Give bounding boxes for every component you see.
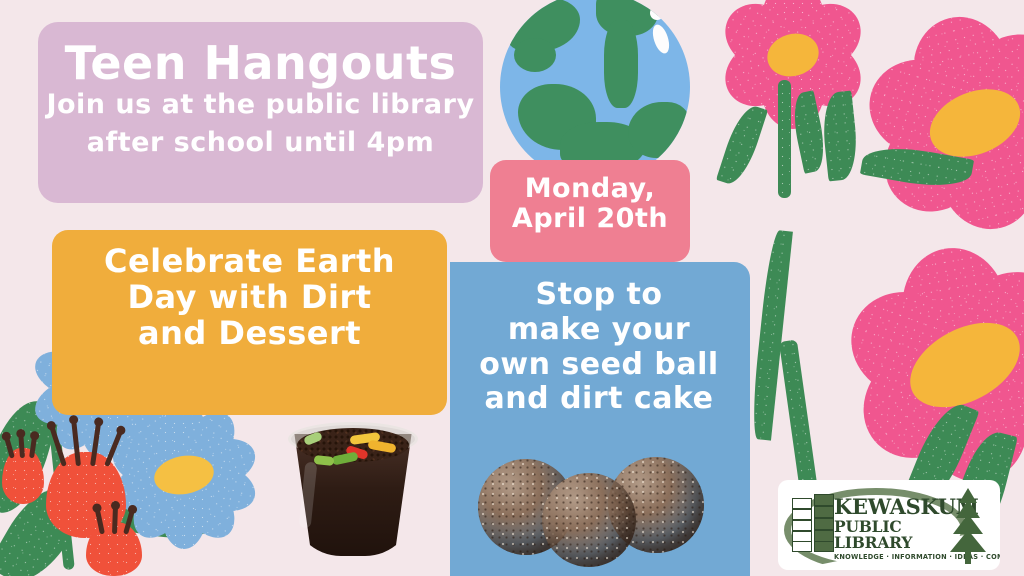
date-line-1: Monday,: [490, 174, 690, 204]
orange-line-2: Day with Dirt: [52, 280, 447, 316]
date-line-2: April 20th: [490, 204, 690, 234]
library-logo: KEWASKUM PUBLIC LIBRARY KNOWLEDGE · INFO…: [778, 480, 1000, 570]
date-badge: Monday, April 20th: [490, 160, 690, 262]
red-flower-bottom: [86, 522, 142, 576]
flower-stem: [48, 420, 75, 570]
flower-stem-curved: [779, 340, 819, 501]
pink-flower-top-right: [718, 0, 868, 130]
blue-line-2: make your: [458, 313, 740, 348]
flower-leaf: [819, 91, 860, 182]
flower-leaf: [716, 102, 768, 189]
orange-panel-text: Celebrate Earth Day with Dirt and Desser…: [52, 230, 447, 351]
blue-line-1: Stop to: [458, 278, 740, 313]
pine-tree-icon: [946, 486, 990, 564]
poster-canvas: Teen Hangouts Join us at the public libr…: [0, 0, 1024, 576]
header-panel: Teen Hangouts Join us at the public libr…: [38, 22, 483, 203]
earth-globe-icon: [500, 0, 690, 182]
blue-info-panel: Stop to make your own seed ball and dirt…: [450, 262, 750, 576]
orange-line-3: and Dessert: [52, 316, 447, 352]
pink-flower-large-lower: [840, 250, 1024, 480]
blue-flower-lower-right: [94, 400, 274, 550]
flower-leaf: [860, 141, 974, 194]
header-subtitle-line-2: after school until 4pm: [38, 128, 483, 158]
orange-info-panel: Celebrate Earth Day with Dirt and Desser…: [52, 230, 447, 415]
flower-leaf: [89, 484, 217, 548]
flower-stem: [778, 80, 791, 198]
blue-panel-text: Stop to make your own seed ball and dirt…: [450, 262, 750, 417]
page-title: Teen Hangouts: [38, 40, 483, 86]
red-flower-center: [46, 452, 126, 538]
red-flower-left: [2, 448, 44, 504]
dirt-cup-dessert-photo: [288, 412, 418, 560]
flower-leaf: [788, 90, 830, 174]
orange-line-1: Celebrate Earth: [52, 244, 447, 280]
bookshelf-icon: [792, 494, 838, 552]
pink-flower-large-upper: [860, 20, 1024, 225]
header-subtitle-line-1: Join us at the public library: [38, 90, 483, 120]
flower-leaf: [0, 393, 61, 521]
date-badge-text: Monday, April 20th: [490, 160, 690, 234]
blue-line-4: and dirt cake: [458, 382, 740, 417]
flower-stem-curved: [749, 229, 793, 440]
blue-line-3: own seed ball: [458, 348, 740, 383]
flower-leaf: [0, 473, 91, 576]
